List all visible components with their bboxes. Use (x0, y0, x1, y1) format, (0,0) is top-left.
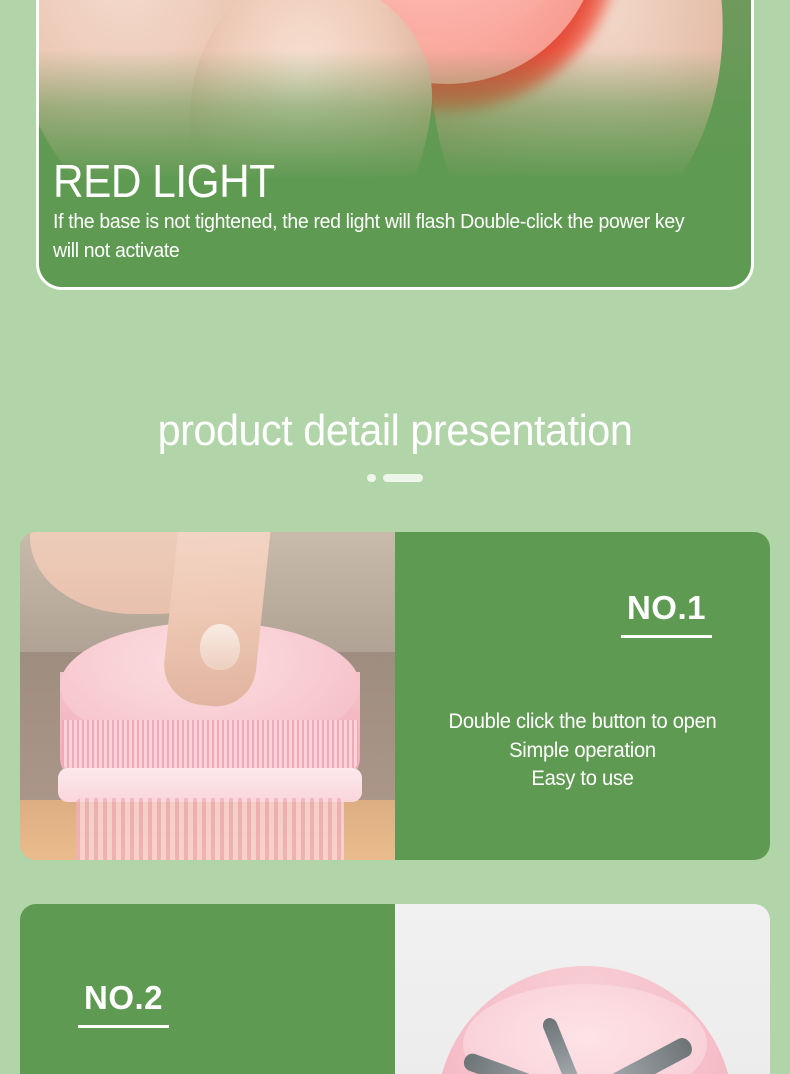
divider-dot (367, 474, 376, 482)
detail-card-no-2: NO.2 (20, 904, 770, 1074)
fingernail-shape (200, 624, 240, 670)
section-heading-block: product detail presentation (0, 406, 790, 482)
press-button-photo (20, 532, 395, 860)
page-title: product detail presentation (24, 406, 767, 457)
detail-card-grid: NO.1 Double click the button to open Sim… (20, 532, 770, 1074)
detail-card-no-1: NO.1 Double click the button to open Sim… (20, 532, 770, 860)
red-light-text-block: RED LIGHT If the base is not tightened, … (39, 158, 751, 287)
detail-card-no-2-text-panel: NO.2 (20, 904, 395, 1074)
dot-dash-divider-icon (0, 474, 790, 482)
lid-collar-shape (58, 768, 362, 802)
card-description-line: Easy to use (435, 765, 730, 794)
red-light-title: RED LIGHT (53, 158, 682, 205)
divider-dash (383, 474, 423, 482)
red-light-card: RED LIGHT If the base is not tightened, … (36, 0, 754, 290)
card-description-line: Double click the button to open (435, 708, 730, 737)
card-number-label-1: NO.1 (621, 590, 712, 638)
detail-card-no-1-text-panel: NO.1 Double click the button to open Sim… (395, 532, 770, 860)
lid-grip-ridges (62, 720, 358, 772)
red-light-description: If the base is not tightened, the red li… (53, 208, 703, 265)
card-description-1: Double click the button to open Simple o… (435, 708, 730, 794)
blender-jar-shape (76, 798, 344, 860)
card-number-label-2: NO.2 (78, 980, 169, 1028)
card-description-line: Simple operation (435, 737, 730, 766)
blade-photo (395, 904, 770, 1074)
